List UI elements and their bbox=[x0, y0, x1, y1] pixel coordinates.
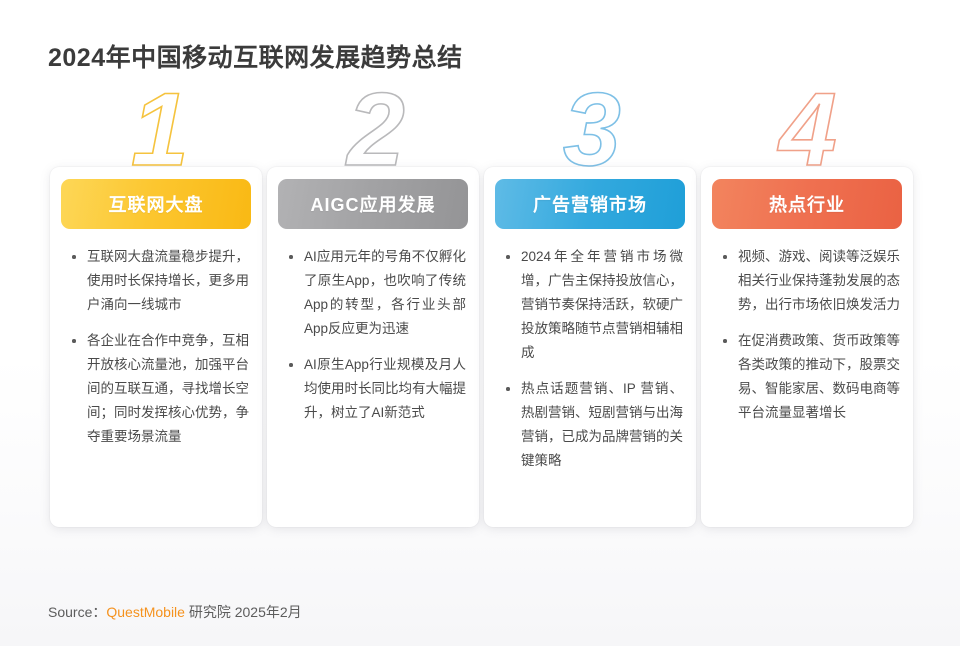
card-title-1: 互联网大盘 bbox=[109, 191, 204, 217]
list-item: 视频、游戏、阅读等泛娱乐相关行业保持蓬勃发展的态势，出行市场依旧焕发活力 bbox=[718, 245, 900, 317]
card-header-2: AIGC应用发展 bbox=[278, 179, 468, 229]
card-internet-overview: 互联网大盘 互联网大盘流量稳步提升，使用时长保持增长，更多用户涌向一线城市 各企… bbox=[50, 167, 262, 527]
list-item: 互联网大盘流量稳步提升，使用时长保持增长，更多用户涌向一线城市 bbox=[67, 245, 249, 317]
source-prefix: Source： bbox=[48, 604, 106, 620]
list-item: AI原生App行业规模及月人均使用时长同比均有大幅提升，树立了AI新范式 bbox=[284, 353, 466, 425]
card-title-4: 热点行业 bbox=[769, 191, 845, 217]
card-header-4: 热点行业 bbox=[712, 179, 902, 229]
slide-canvas: 2024年中国移动互联网发展趋势总结 1 2 3 4 互联网大盘 互联网大盘流量… bbox=[0, 0, 960, 646]
list-item: 热点话题营销、IP 营销、热剧营销、短剧营销与出海营销，已成为品牌营销的关键策略 bbox=[501, 377, 683, 473]
card-title-3: 广告营销市场 bbox=[533, 191, 647, 217]
bullet-list-4: 视频、游戏、阅读等泛娱乐相关行业保持蓬勃发展的态势，出行市场依旧焕发活力 在促消… bbox=[712, 245, 902, 517]
source-footer: Source：QuestMobile 研究院 2025年2月 bbox=[48, 602, 302, 622]
card-header-1: 互联网大盘 bbox=[61, 179, 251, 229]
page-title: 2024年中国移动互联网发展趋势总结 bbox=[48, 38, 463, 74]
list-item: 2024年全年营销市场微增，广告主保持投放信心，营销节奏保持活跃，软硬广投放策略… bbox=[501, 245, 683, 365]
card-ad-marketing-market: 广告营销市场 2024年全年营销市场微增，广告主保持投放信心，营销节奏保持活跃，… bbox=[484, 167, 696, 527]
card-aigc-applications: AIGC应用发展 AI应用元年的号角不仅孵化了原生App，也吹响了传统App的转… bbox=[267, 167, 479, 527]
source-suffix: 研究院 2025年2月 bbox=[185, 604, 302, 620]
card-row: 互联网大盘 互联网大盘流量稳步提升，使用时长保持增长，更多用户涌向一线城市 各企… bbox=[50, 167, 914, 527]
card-hot-industries: 热点行业 视频、游戏、阅读等泛娱乐相关行业保持蓬勃发展的态势，出行市场依旧焕发活… bbox=[701, 167, 913, 527]
list-item: AI应用元年的号角不仅孵化了原生App，也吹响了传统App的转型，各行业头部Ap… bbox=[284, 245, 466, 341]
list-item: 在促消费政策、货币政策等各类政策的推动下，股票交易、智能家居、数码电商等平台流量… bbox=[718, 329, 900, 425]
card-header-3: 广告营销市场 bbox=[495, 179, 685, 229]
card-title-2: AIGC应用发展 bbox=[311, 191, 436, 217]
source-brand: QuestMobile bbox=[106, 604, 185, 620]
bullet-list-1: 互联网大盘流量稳步提升，使用时长保持增长，更多用户涌向一线城市 各企业在合作中竞… bbox=[61, 245, 251, 517]
bullet-list-3: 2024年全年营销市场微增，广告主保持投放信心，营销节奏保持活跃，软硬广投放策略… bbox=[495, 245, 685, 517]
list-item: 各企业在合作中竞争，互相开放核心流量池，加强平台间的互联互通，寻找增长空间；同时… bbox=[67, 329, 249, 449]
bullet-list-2: AI应用元年的号角不仅孵化了原生App，也吹响了传统App的转型，各行业头部Ap… bbox=[278, 245, 468, 517]
